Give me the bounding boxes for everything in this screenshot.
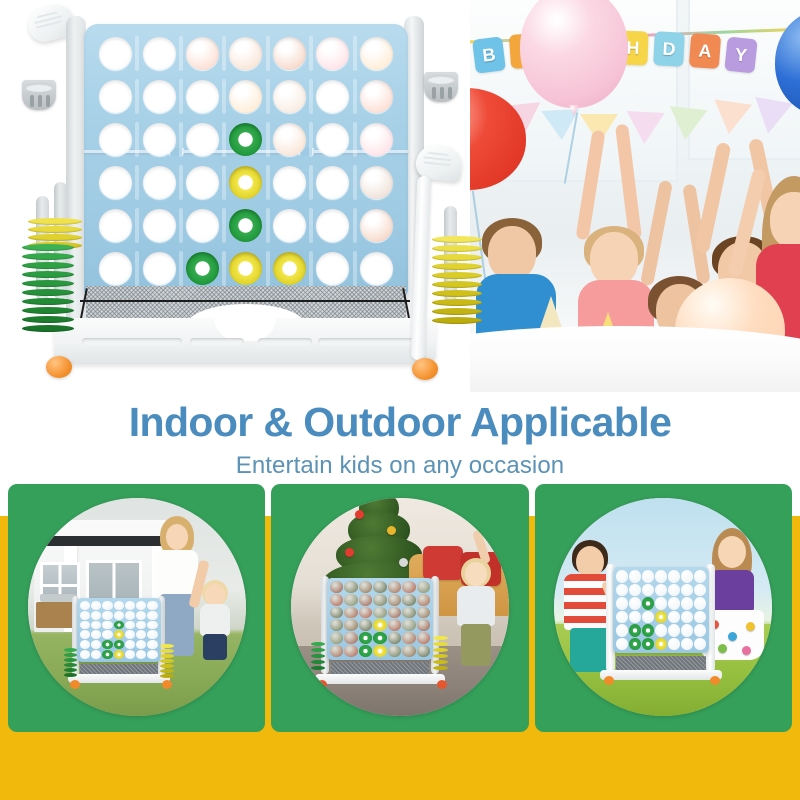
game-coin-yellow — [229, 252, 262, 285]
board-hole — [99, 166, 132, 199]
mini-board-hole — [417, 619, 430, 631]
board-hole — [99, 123, 132, 156]
board-cell[interactable] — [311, 75, 354, 118]
board-hole — [99, 209, 132, 242]
board-cell[interactable] — [311, 247, 354, 290]
mini-board-hole — [344, 619, 357, 631]
board-hole — [316, 209, 349, 242]
board-hole — [316, 80, 349, 113]
mini-board-hole — [147, 611, 157, 620]
mini-board-hole — [80, 611, 90, 620]
mini-board-hole — [629, 611, 641, 624]
mini-board-hole — [373, 607, 386, 619]
mini-coin-hole — [373, 645, 386, 657]
mini-board-hole — [80, 650, 90, 659]
mini-board-hole — [91, 650, 101, 659]
mini-board-hole — [642, 584, 654, 597]
mini-board-hole — [136, 630, 146, 639]
mini-board-hole — [373, 594, 386, 606]
mini-board-hole — [681, 584, 693, 597]
mini-board-hole — [330, 594, 343, 606]
bunting-flag — [710, 100, 752, 137]
mini-board-hole — [642, 570, 654, 583]
board-cell[interactable] — [311, 204, 354, 247]
mini-coin-hole — [655, 611, 667, 624]
board-cell[interactable] — [268, 32, 311, 75]
board-cell[interactable] — [268, 247, 311, 290]
mini-board-hole — [344, 581, 357, 593]
mini-board-hole — [359, 581, 372, 593]
mini-coin-hole — [642, 597, 654, 610]
mini-board-hole — [642, 611, 654, 624]
board-cell[interactable] — [137, 247, 180, 290]
board-hole — [99, 252, 132, 285]
board-cell[interactable] — [268, 75, 311, 118]
board-cell[interactable] — [137, 32, 180, 75]
mini-board-hole — [125, 611, 135, 620]
mini-board-hole — [359, 594, 372, 606]
board-hole — [186, 37, 219, 70]
board-hole — [143, 252, 176, 285]
mini-board-hole — [681, 570, 693, 583]
mini-coin-hole — [114, 630, 124, 639]
mini-board-hole — [330, 619, 343, 631]
mini-board-hole — [655, 584, 667, 597]
banner-letter: A — [689, 33, 721, 69]
mini-board-hole — [147, 621, 157, 630]
mini-board-hole — [388, 581, 401, 593]
board-hole — [316, 166, 349, 199]
mini-product-holiday — [321, 576, 451, 692]
board-cell[interactable] — [181, 75, 224, 118]
board-hole — [316, 37, 349, 70]
board-hole — [360, 123, 393, 156]
cup-holder-right — [424, 72, 458, 102]
mini-coin-hole — [102, 640, 112, 649]
board-hole — [186, 123, 219, 156]
mini-board-hole — [668, 638, 680, 651]
panel-photo-birthday — [554, 498, 772, 716]
mini-board-hole — [694, 584, 706, 597]
board-cell[interactable] — [224, 32, 267, 75]
board-hole — [360, 166, 393, 199]
mini-board-hole — [681, 624, 693, 637]
mini-board-hole — [402, 632, 415, 644]
mini-coin-hole — [655, 638, 667, 651]
game-coin-green — [229, 209, 262, 242]
bunting-flag — [749, 97, 792, 137]
mini-board-hole — [102, 601, 112, 610]
board-hole — [273, 209, 306, 242]
mini-board-hole — [114, 611, 124, 620]
birthday-party-photo: B I R T H D A Y — [430, 0, 800, 392]
mini-board-hole — [417, 645, 430, 657]
mini-board-hole — [388, 632, 401, 644]
mini-board-hole — [655, 597, 667, 610]
mini-board-hole — [668, 611, 680, 624]
product-photo-main — [0, 0, 470, 392]
mini-board-hole — [102, 621, 112, 630]
mini-coin-hole — [114, 640, 124, 649]
mini-board-hole — [694, 570, 706, 583]
mini-board-hole — [616, 624, 628, 637]
mini-board-hole — [344, 632, 357, 644]
mini-board-hole — [668, 570, 680, 583]
mini-board-hole — [344, 607, 357, 619]
mini-board-hole — [681, 597, 693, 610]
mini-board-hole — [668, 624, 680, 637]
mini-board-hole — [80, 640, 90, 649]
pillow-decor — [423, 546, 463, 580]
mini-board-hole — [417, 581, 430, 593]
board-hole — [229, 80, 262, 113]
mini-board-hole — [102, 611, 112, 620]
mini-yellow-stack — [433, 636, 448, 676]
panel-backyard-party[interactable]: Backyard Party — [8, 484, 265, 732]
board-cell[interactable] — [224, 204, 267, 247]
board-hole — [143, 209, 176, 242]
mini-board-hole — [114, 601, 124, 610]
board-cell[interactable] — [94, 32, 137, 75]
use-case-panels: Backyard Party — [0, 484, 800, 800]
mini-board-hole — [359, 607, 372, 619]
mini-board-hole — [147, 640, 157, 649]
net-wire — [80, 300, 410, 302]
game-coin-green — [186, 252, 219, 285]
board-hole — [186, 166, 219, 199]
mini-board-hole — [91, 621, 101, 630]
bunting-flag — [625, 111, 665, 145]
board-hole — [316, 123, 349, 156]
mini-board-hole — [136, 611, 146, 620]
mini-board-hole — [136, 650, 146, 659]
board-cell[interactable] — [311, 118, 354, 161]
board-cell[interactable] — [224, 75, 267, 118]
game-coin-green — [229, 123, 262, 156]
mini-board-hole — [668, 597, 680, 610]
board-cell[interactable] — [355, 161, 398, 204]
mini-board-hole — [388, 594, 401, 606]
mini-board-hole — [330, 581, 343, 593]
mini-board-hole — [136, 621, 146, 630]
board-hole — [186, 209, 219, 242]
mini-board-hole — [125, 640, 135, 649]
board-cell[interactable] — [137, 118, 180, 161]
game-coin-yellow — [229, 166, 262, 199]
board-cell[interactable] — [94, 247, 137, 290]
mini-board-hole — [402, 594, 415, 606]
board-cell[interactable] — [94, 75, 137, 118]
product-banner-page: B I R T H D A Y — [0, 0, 800, 800]
panel-photo-holiday — [291, 498, 509, 716]
product-base — [54, 318, 436, 364]
mini-board-hole — [388, 607, 401, 619]
mini-product-backyard — [72, 594, 176, 690]
board-hole — [360, 209, 393, 242]
board-cell[interactable] — [355, 75, 398, 118]
mini-board-hole — [694, 624, 706, 637]
mini-coin-hole — [359, 632, 372, 644]
board-hole — [360, 80, 393, 113]
yellow-coin-stack-right — [432, 236, 482, 332]
mini-board-hole — [629, 597, 641, 610]
mini-board-hole — [681, 638, 693, 651]
mini-board-hole — [616, 570, 628, 583]
mini-board-hole — [125, 601, 135, 610]
board-hole — [186, 80, 219, 113]
mini-board-hole — [417, 607, 430, 619]
mini-board-hole — [91, 630, 101, 639]
cup-holder-left — [22, 80, 56, 110]
board-hole — [143, 123, 176, 156]
bunting-flag — [666, 106, 707, 142]
board-cell[interactable] — [355, 118, 398, 161]
board-cell[interactable] — [94, 204, 137, 247]
mini-board-hole — [616, 584, 628, 597]
mini-board-hole — [136, 640, 146, 649]
mini-board-hole — [330, 607, 343, 619]
mini-board-hole — [136, 601, 146, 610]
board-cell[interactable] — [224, 247, 267, 290]
mini-board-hole — [91, 601, 101, 610]
banner-letter: B — [472, 36, 506, 73]
board-hole — [229, 37, 262, 70]
panel-photo-backyard — [28, 498, 246, 716]
mini-board-hole — [616, 611, 628, 624]
page-subtitle: Entertain kids on any occasion — [0, 444, 800, 479]
mini-board-hole — [402, 619, 415, 631]
mini-board-hole — [417, 594, 430, 606]
board-hole — [143, 166, 176, 199]
mini-board-hole — [402, 607, 415, 619]
mini-board-hole — [694, 597, 706, 610]
banner-letter: Y — [724, 37, 757, 74]
mini-board-hole — [147, 630, 157, 639]
board-cell[interactable] — [181, 247, 224, 290]
panel-holiday[interactable]: Holiday — [271, 484, 528, 732]
mini-board-hole — [655, 570, 667, 583]
board-cell[interactable] — [268, 204, 311, 247]
board-hole — [316, 252, 349, 285]
board-cell[interactable] — [311, 161, 354, 204]
hero-section: B I R T H D A Y — [0, 0, 800, 392]
mini-product-birthday — [606, 564, 728, 686]
board-cell[interactable] — [355, 247, 398, 290]
board-cell[interactable] — [181, 161, 224, 204]
panel-birthday[interactable]: Birthday — [535, 484, 792, 732]
mini-board-hole — [629, 570, 641, 583]
mini-board-hole — [388, 619, 401, 631]
board-cell[interactable] — [311, 32, 354, 75]
board-hole — [99, 80, 132, 113]
mini-board-hole — [694, 611, 706, 624]
board-hole — [273, 166, 306, 199]
headline-block: Indoor & Outdoor Applicable Entertain ki… — [0, 392, 800, 484]
wheel-right — [412, 358, 438, 380]
board-cell[interactable] — [355, 32, 398, 75]
mini-board-hole — [125, 621, 135, 630]
board-cell[interactable] — [181, 204, 224, 247]
mini-board-hole — [80, 601, 90, 610]
board-hole — [360, 252, 393, 285]
mini-green-stack — [311, 642, 325, 676]
game-coin-yellow — [273, 252, 306, 285]
mini-coin-hole — [373, 632, 386, 644]
mini-board-hole — [681, 611, 693, 624]
mini-board-hole — [344, 645, 357, 657]
board-cell[interactable] — [224, 161, 267, 204]
mini-grid-birthday — [616, 570, 706, 650]
mini-board-hole — [359, 619, 372, 631]
board-cell[interactable] — [224, 118, 267, 161]
banner-letter: D — [653, 31, 685, 67]
mini-coin-hole — [642, 638, 654, 651]
mini-board-hole — [694, 638, 706, 651]
page-title: Indoor & Outdoor Applicable — [0, 392, 800, 444]
mini-yellow-stack — [160, 644, 174, 680]
mini-board-hole — [125, 630, 135, 639]
mini-board-hole — [402, 581, 415, 593]
mini-coin-hole — [102, 650, 112, 659]
board-cell[interactable] — [268, 118, 311, 161]
board-cell[interactable] — [181, 32, 224, 75]
mini-coin-hole — [373, 619, 386, 631]
mini-board-hole — [147, 601, 157, 610]
board-cell[interactable] — [94, 118, 137, 161]
mini-board-hole — [91, 640, 101, 649]
mini-board-hole — [655, 624, 667, 637]
board-hole — [273, 123, 306, 156]
board-hole — [99, 37, 132, 70]
mini-board-hole — [402, 645, 415, 657]
mini-board-hole — [668, 584, 680, 597]
game-board[interactable] — [84, 24, 408, 296]
party-table — [430, 326, 800, 392]
wheel-left — [46, 356, 72, 378]
mini-grid-backyard — [80, 601, 158, 659]
board-grid[interactable] — [94, 32, 398, 290]
board-hole — [143, 80, 176, 113]
mini-coin-hole — [114, 650, 124, 659]
mini-board-hole — [344, 594, 357, 606]
mini-board-hole — [388, 645, 401, 657]
mini-coin-hole — [629, 638, 641, 651]
board-hole — [360, 37, 393, 70]
board-cell[interactable] — [268, 161, 311, 204]
board-cell[interactable] — [181, 118, 224, 161]
mini-board-hole — [616, 597, 628, 610]
mini-board-hole — [80, 630, 90, 639]
mini-board-hole — [147, 650, 157, 659]
mini-grid-holiday — [330, 581, 430, 657]
mini-board-hole — [102, 630, 112, 639]
mini-board-hole — [330, 632, 343, 644]
board-cell[interactable] — [94, 161, 137, 204]
board-cell[interactable] — [137, 161, 180, 204]
mini-board-hole — [80, 621, 90, 630]
board-hole — [273, 80, 306, 113]
board-cell[interactable] — [355, 204, 398, 247]
mini-coin-hole — [359, 645, 372, 657]
mini-board-hole — [629, 584, 641, 597]
green-coin-stack-left — [22, 244, 74, 336]
mini-board-hole — [373, 581, 386, 593]
board-hole — [143, 37, 176, 70]
mini-coin-hole — [629, 624, 641, 637]
mini-board-hole — [91, 611, 101, 620]
balloon-pink — [520, 0, 628, 108]
mini-green-stack — [64, 648, 77, 678]
mini-coin-hole — [114, 621, 124, 630]
board-cell[interactable] — [137, 204, 180, 247]
board-cell[interactable] — [137, 75, 180, 118]
mini-board-hole — [616, 638, 628, 651]
mini-board-hole — [417, 632, 430, 644]
board-hole — [273, 37, 306, 70]
mini-board-hole — [125, 650, 135, 659]
mini-coin-hole — [642, 624, 654, 637]
mini-board-hole — [330, 645, 343, 657]
